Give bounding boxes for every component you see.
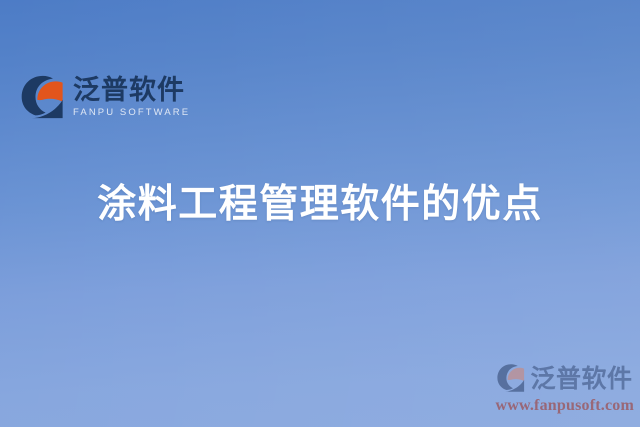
watermark-brand-row: 泛普软件 xyxy=(495,363,634,393)
watermark-url: www.fanpusoft.com xyxy=(495,397,634,415)
watermark: 泛普软件 www.fanpusoft.com xyxy=(495,363,634,415)
watermark-brand-cn: 泛普软件 xyxy=(530,366,632,391)
banner-image: 泛普软件 FANPU SOFTWARE 涂料工程管理软件的优点 泛普软件 www… xyxy=(0,0,640,427)
header-logo: 泛普软件 FANPU SOFTWARE xyxy=(18,74,190,120)
page-title-text: 涂料工程管理软件的优点 xyxy=(97,182,543,227)
brand-name-cn: 泛普软件 xyxy=(73,77,190,105)
page-title: 涂料工程管理软件的优点 xyxy=(0,182,640,228)
header-wordmark: 泛普软件 FANPU SOFTWARE xyxy=(73,75,190,119)
brand-name-en: FANPU SOFTWARE xyxy=(73,108,190,118)
fanpu-sail-logo-icon xyxy=(18,74,64,120)
fanpu-sail-watermark-icon xyxy=(495,363,525,393)
